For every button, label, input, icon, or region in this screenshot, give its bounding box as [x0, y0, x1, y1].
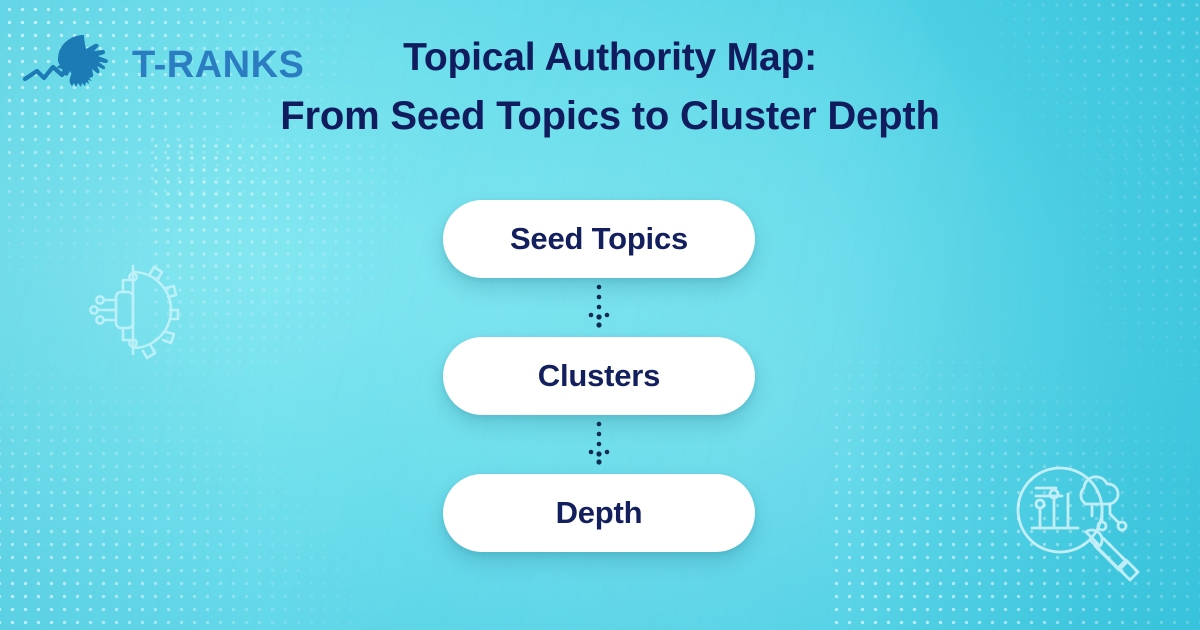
flow-connector-2	[443, 415, 755, 474]
dotted-down-arrow-icon	[586, 419, 612, 471]
flow-step-label: Depth	[556, 495, 643, 531]
halftone-dots-right-mid	[1020, 120, 1200, 380]
magnifier-bar-chart-cloud-analytics-icon	[1000, 452, 1150, 600]
trex-growth-arrow-logo-icon	[22, 32, 134, 98]
dotted-down-arrow-icon	[586, 282, 612, 334]
social-card-canvas: T-RANKS Topical Authority Map: From Seed…	[0, 0, 1200, 630]
flow-step-label: Clusters	[538, 358, 660, 394]
flow-step-seed-topics[interactable]: Seed Topics	[443, 200, 755, 278]
flow-step-label: Seed Topics	[510, 221, 688, 257]
flow-connector-1	[443, 278, 755, 337]
halftone-dots-bottom-left	[0, 330, 380, 630]
title-line-2: From Seed Topics to Cluster Depth	[180, 87, 1040, 145]
flow-diagram: Seed Topics Clusters	[443, 200, 755, 552]
flow-step-clusters[interactable]: Clusters	[443, 337, 755, 415]
page-title: Topical Authority Map: From Seed Topics …	[180, 30, 1040, 145]
flow-step-depth[interactable]: Depth	[443, 474, 755, 552]
title-line-1: Topical Authority Map:	[180, 30, 1040, 87]
gear-circuit-ai-icon	[78, 258, 186, 362]
